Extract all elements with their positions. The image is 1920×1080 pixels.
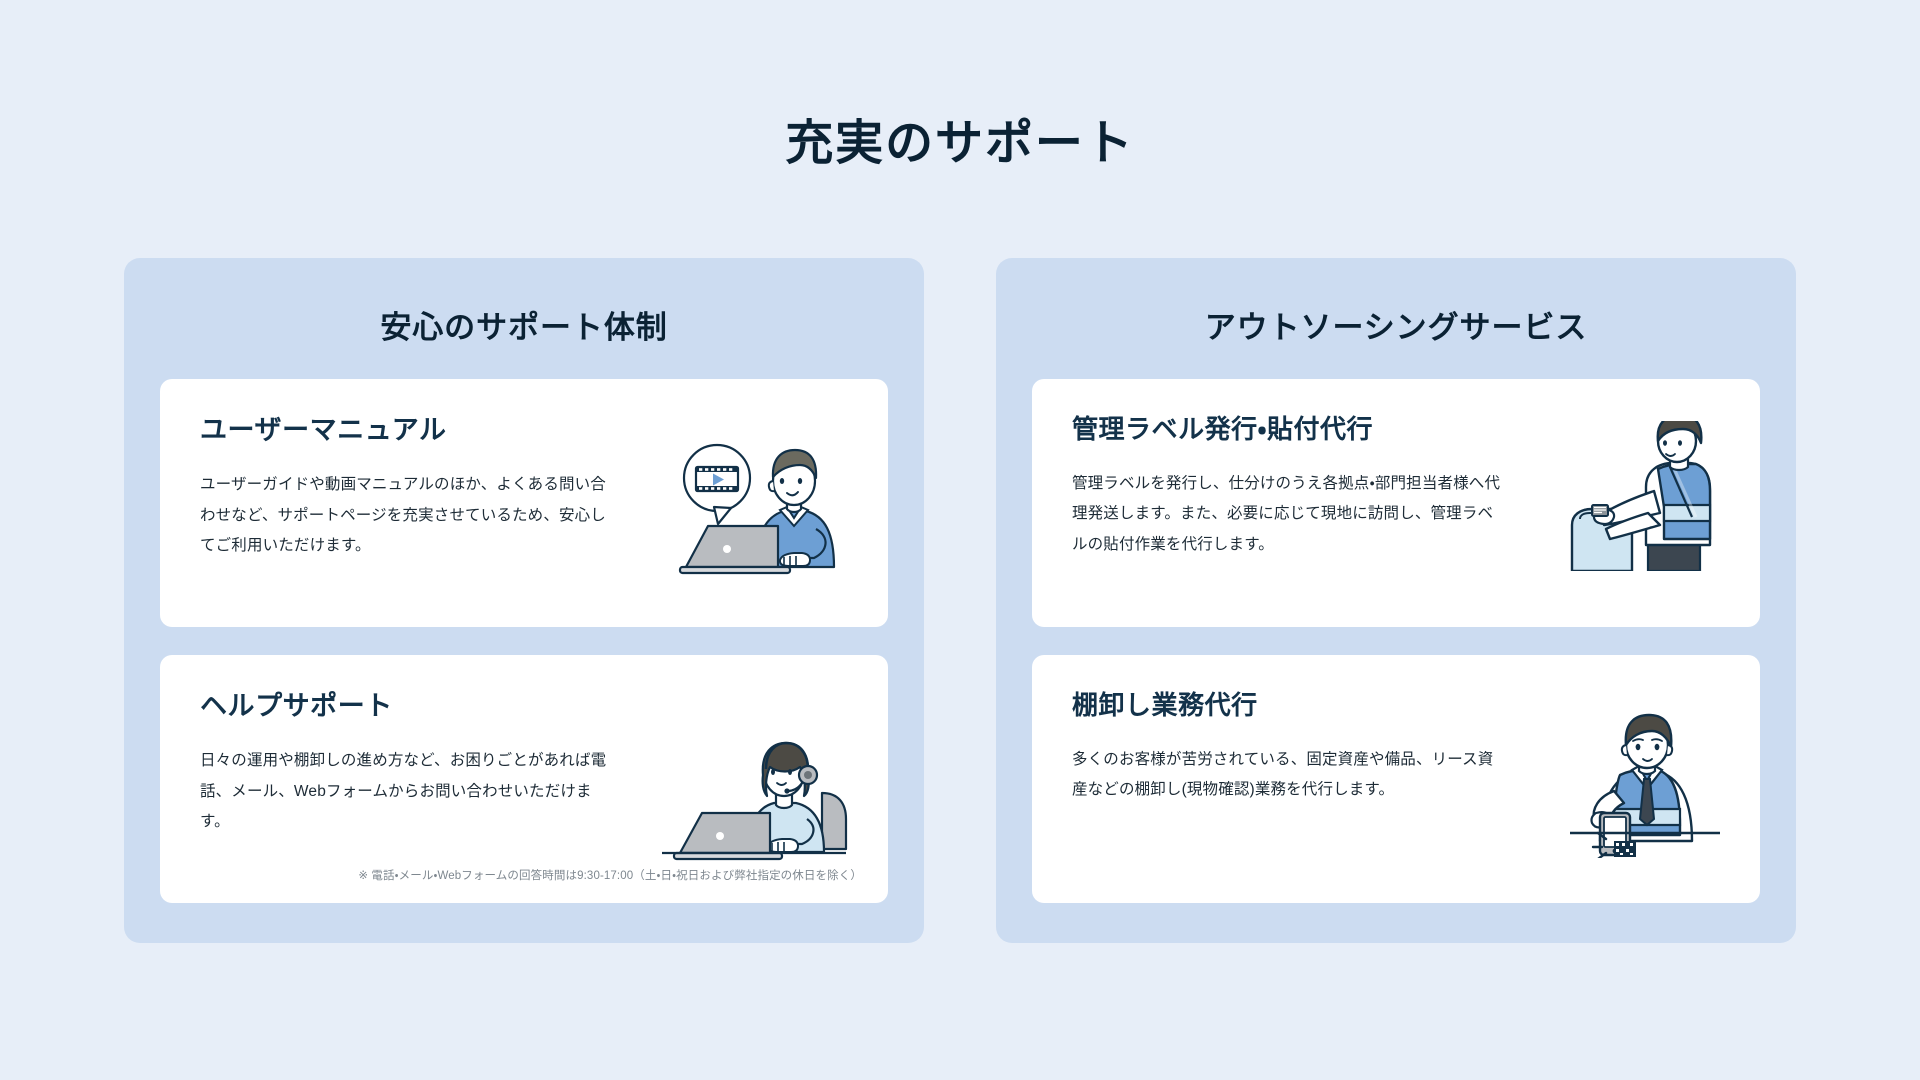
panel-title-outsourcing-service: アウトソーシングサービス [1032, 308, 1760, 348]
card-stocktaking-agency[interactable]: 棚卸し業務代行 多くのお客様が苦労されている、固定資産や備品、リース資産などの棚… [1032, 655, 1760, 903]
card-title-label-issue-attach: 管理ラベル発行・貼付代行 [1072, 413, 1720, 447]
page-title: 充実のサポート [0, 115, 1920, 173]
card-title-stocktaking-agency: 棚卸し業務代行 [1072, 689, 1720, 723]
support-page: 充実のサポート 安心のサポート体制 ユーザーマニュアル ユーザーガイドや動画マニ… [0, 0, 1920, 1080]
card-note-help-support: ※ 電話・メール・Webフォームの回答時間は9:30-17:00（土・日・祝日お… [358, 867, 862, 883]
card-title-help-support: ヘルプサポート [200, 689, 848, 724]
card-user-manual[interactable]: ユーザーマニュアル ユーザーガイドや動画マニュアルのほか、よくある問い合わせなど… [160, 379, 888, 627]
card-body-label-issue-attach: 管理ラベルを発行し、仕分けのうえ各拠点・部門担当者様へ代理発送します。また、必要… [1072, 469, 1502, 560]
woman-with-headset-at-laptop-illustration [662, 727, 862, 862]
card-body-stocktaking-agency: 多くのお客様が苦労されている、固定資産や備品、リース資産などの棚卸し(現物確認)… [1072, 745, 1502, 805]
panel-support-system: 安心のサポート体制 ユーザーマニュアル ユーザーガイドや動画マニュアルのほか、よ… [124, 258, 924, 943]
worker-scanning-qr-code-illustration [1570, 713, 1720, 858]
panel-title-support-system: 安心のサポート体制 [160, 308, 888, 348]
card-body-user-manual: ユーザーガイドや動画マニュアルのほか、よくある問い合わせなど、サポートページを充… [200, 470, 620, 561]
card-title-user-manual: ユーザーマニュアル [200, 413, 848, 448]
panel-outsourcing-service: アウトソーシングサービス 管理ラベル発行・貼付代行 管理ラベルを発行し、仕分けの… [996, 258, 1796, 943]
card-label-issue-attach[interactable]: 管理ラベル発行・貼付代行 管理ラベルを発行し、仕分けのうえ各拠点・部門担当者様へ… [1032, 379, 1760, 627]
card-body-help-support: 日々の運用や棚卸しの進め方など、お困りごとがあれば電話、メール、Webフォームか… [200, 746, 620, 837]
card-help-support[interactable]: ヘルプサポート 日々の運用や棚卸しの進め方など、お困りごとがあれば電話、メール、… [160, 655, 888, 903]
panels-container: 安心のサポート体制 ユーザーマニュアル ユーザーガイドや動画マニュアルのほか、よ… [124, 258, 1796, 943]
